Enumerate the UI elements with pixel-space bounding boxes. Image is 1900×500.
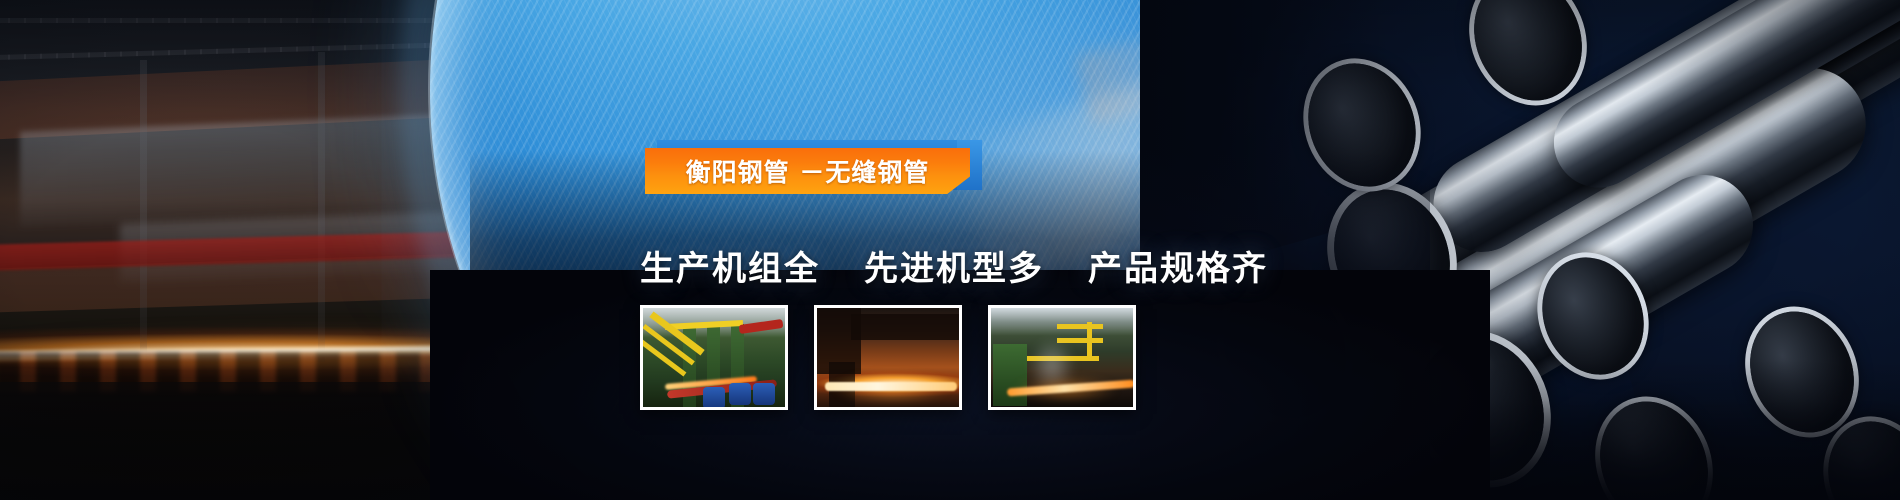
headline-phrase-2: 先进机型多 xyxy=(864,241,1044,290)
thumbnail-rolling-mill-production-line[interactable] xyxy=(640,305,788,410)
brand-badge: 衡阳钢管 －无缝钢管 xyxy=(645,140,985,194)
thumbnail-hot-billet-rolling[interactable] xyxy=(814,305,962,410)
brand-badge-plate: 衡阳钢管 －无缝钢管 xyxy=(645,148,970,194)
headline-phrase-1: 生产机组全 xyxy=(640,241,820,290)
hero-banner: 衡阳钢管 －无缝钢管 生产机组全 先进机型多 产品规格齐 xyxy=(0,0,1900,500)
thumbnail-gallery xyxy=(640,305,1136,410)
thumbnail-steel-plant-hot-bar[interactable] xyxy=(988,305,1136,410)
headline-phrase-3: 产品规格齐 xyxy=(1088,241,1268,290)
brand-badge-label: 衡阳钢管 －无缝钢管 xyxy=(686,153,930,189)
headline: 生产机组全 先进机型多 产品规格齐 xyxy=(640,240,1400,290)
